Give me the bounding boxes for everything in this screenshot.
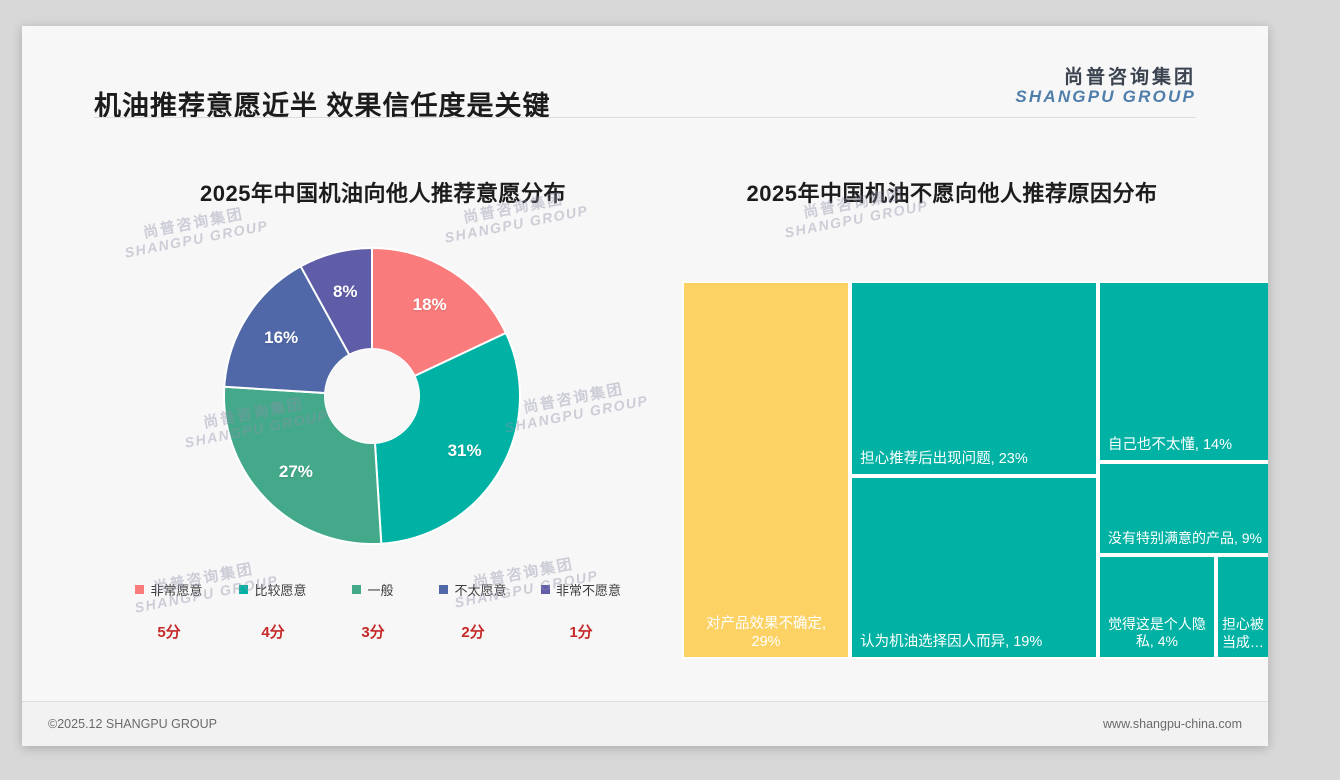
slide-page: 尚普咨询集团 SHANGPU GROUP 尚普咨询集团 SHANGPU GROU…	[0, 0, 1340, 780]
header-divider	[94, 117, 1196, 118]
legend-swatch-icon	[352, 585, 361, 594]
legend-label: 非常不愿意	[556, 580, 621, 599]
legend-item-非常不愿意[interactable]: 非常不愿意	[525, 580, 637, 599]
donut-slice-label: 8%	[333, 282, 358, 302]
score-label-4分: 4分	[221, 621, 325, 642]
treemap-tile[interactable]: 担心被当成…	[1216, 555, 1268, 659]
treemap-tile-label: 没有特别满意的产品, 9%	[1106, 530, 1264, 548]
logo-text-cn: 尚普咨询集团	[1015, 68, 1196, 88]
score-label-2分: 2分	[421, 621, 525, 642]
treemap-tile[interactable]: 对产品效果不确定, 29%	[682, 281, 850, 659]
slide-canvas: 尚普咨询集团 SHANGPU GROUP 尚普咨询集团 SHANGPU GROU…	[22, 26, 1268, 746]
treemap-tile[interactable]: 认为机油选择因人而异, 19%	[850, 476, 1098, 659]
donut-slice-label: 31%	[448, 441, 482, 461]
legend-label: 比较愿意	[254, 580, 306, 599]
treemap-tile[interactable]: 担心推荐后出现问题, 23%	[850, 281, 1098, 476]
legend-swatch-icon	[439, 585, 448, 594]
donut-legend: 非常愿意比较愿意一般不太愿意非常不愿意	[82, 580, 662, 599]
legend-swatch-icon	[135, 585, 144, 594]
donut-score-row: 5分4分3分2分1分	[82, 621, 662, 642]
brand-logo: 尚普咨询集团 SHANGPU GROUP	[1015, 68, 1196, 106]
donut-hole	[325, 349, 419, 443]
score-label-3分: 3分	[325, 621, 421, 642]
legend-swatch-icon	[239, 585, 248, 594]
donut-chart: 18%31%27%16%8%	[222, 246, 522, 546]
donut-slice-label: 27%	[279, 462, 313, 482]
donut-slice-label: 16%	[264, 328, 298, 348]
logo-text-en: SHANGPU GROUP	[1015, 88, 1196, 106]
footer-website[interactable]: www.shangpu-china.com	[1103, 717, 1242, 731]
treemap-chart: 对产品效果不确定, 29%担心推荐后出现问题, 23%认为机油选择因人而异, 1…	[682, 281, 1268, 659]
legend-item-非常愿意[interactable]: 非常愿意	[117, 580, 221, 599]
donut-chart-panel: 2025年中国机油向他人推荐意愿分布 18%31%27%16%8% 非常愿意比较…	[82, 146, 662, 686]
footer-copyright: ©2025.12 SHANGPU GROUP	[48, 717, 217, 731]
donut-chart-title: 2025年中国机油向他人推荐意愿分布	[82, 176, 662, 208]
treemap-chart-title: 2025年中国机油不愿向他人推荐原因分布	[672, 176, 1232, 208]
treemap-tile-label: 认为机油选择因人而异, 19%	[860, 633, 1090, 651]
slide-footer: ©2025.12 SHANGPU GROUP www.shangpu-china…	[22, 702, 1268, 746]
score-label-5分: 5分	[117, 621, 221, 642]
treemap-tile-label: 对产品效果不确定, 29%	[690, 615, 842, 651]
treemap-tile[interactable]: 没有特别满意的产品, 9%	[1098, 462, 1268, 555]
donut-slice-label: 18%	[413, 295, 447, 315]
legend-label: 不太愿意	[454, 580, 506, 599]
treemap-tile-label: 觉得这是个人隐私, 4%	[1106, 616, 1208, 651]
legend-item-比较愿意[interactable]: 比较愿意	[221, 580, 325, 599]
treemap-panel: 2025年中国机油不愿向他人推荐原因分布 对产品效果不确定, 29%担心推荐后出…	[672, 146, 1232, 686]
slide-header: 机油推荐意愿近半 效果信任度是关键 尚普咨询集团 SHANGPU GROUP	[22, 26, 1268, 118]
donut-svg	[222, 246, 522, 546]
treemap-tile-label: 自己也不太懂, 14%	[1108, 436, 1264, 454]
treemap-tile[interactable]: 自己也不太懂, 14%	[1098, 281, 1268, 462]
legend-swatch-icon	[541, 585, 550, 594]
score-label-1分: 1分	[525, 621, 637, 642]
legend-item-不太愿意[interactable]: 不太愿意	[421, 580, 525, 599]
treemap-tile[interactable]: 觉得这是个人隐私, 4%	[1098, 555, 1216, 659]
treemap-tile-label: 担心被当成…	[1222, 615, 1266, 651]
treemap-tile-label: 担心推荐后出现问题, 23%	[860, 450, 1090, 468]
legend-item-一般[interactable]: 一般	[325, 580, 421, 599]
legend-label: 一般	[367, 580, 393, 599]
legend-label: 非常愿意	[150, 580, 202, 599]
